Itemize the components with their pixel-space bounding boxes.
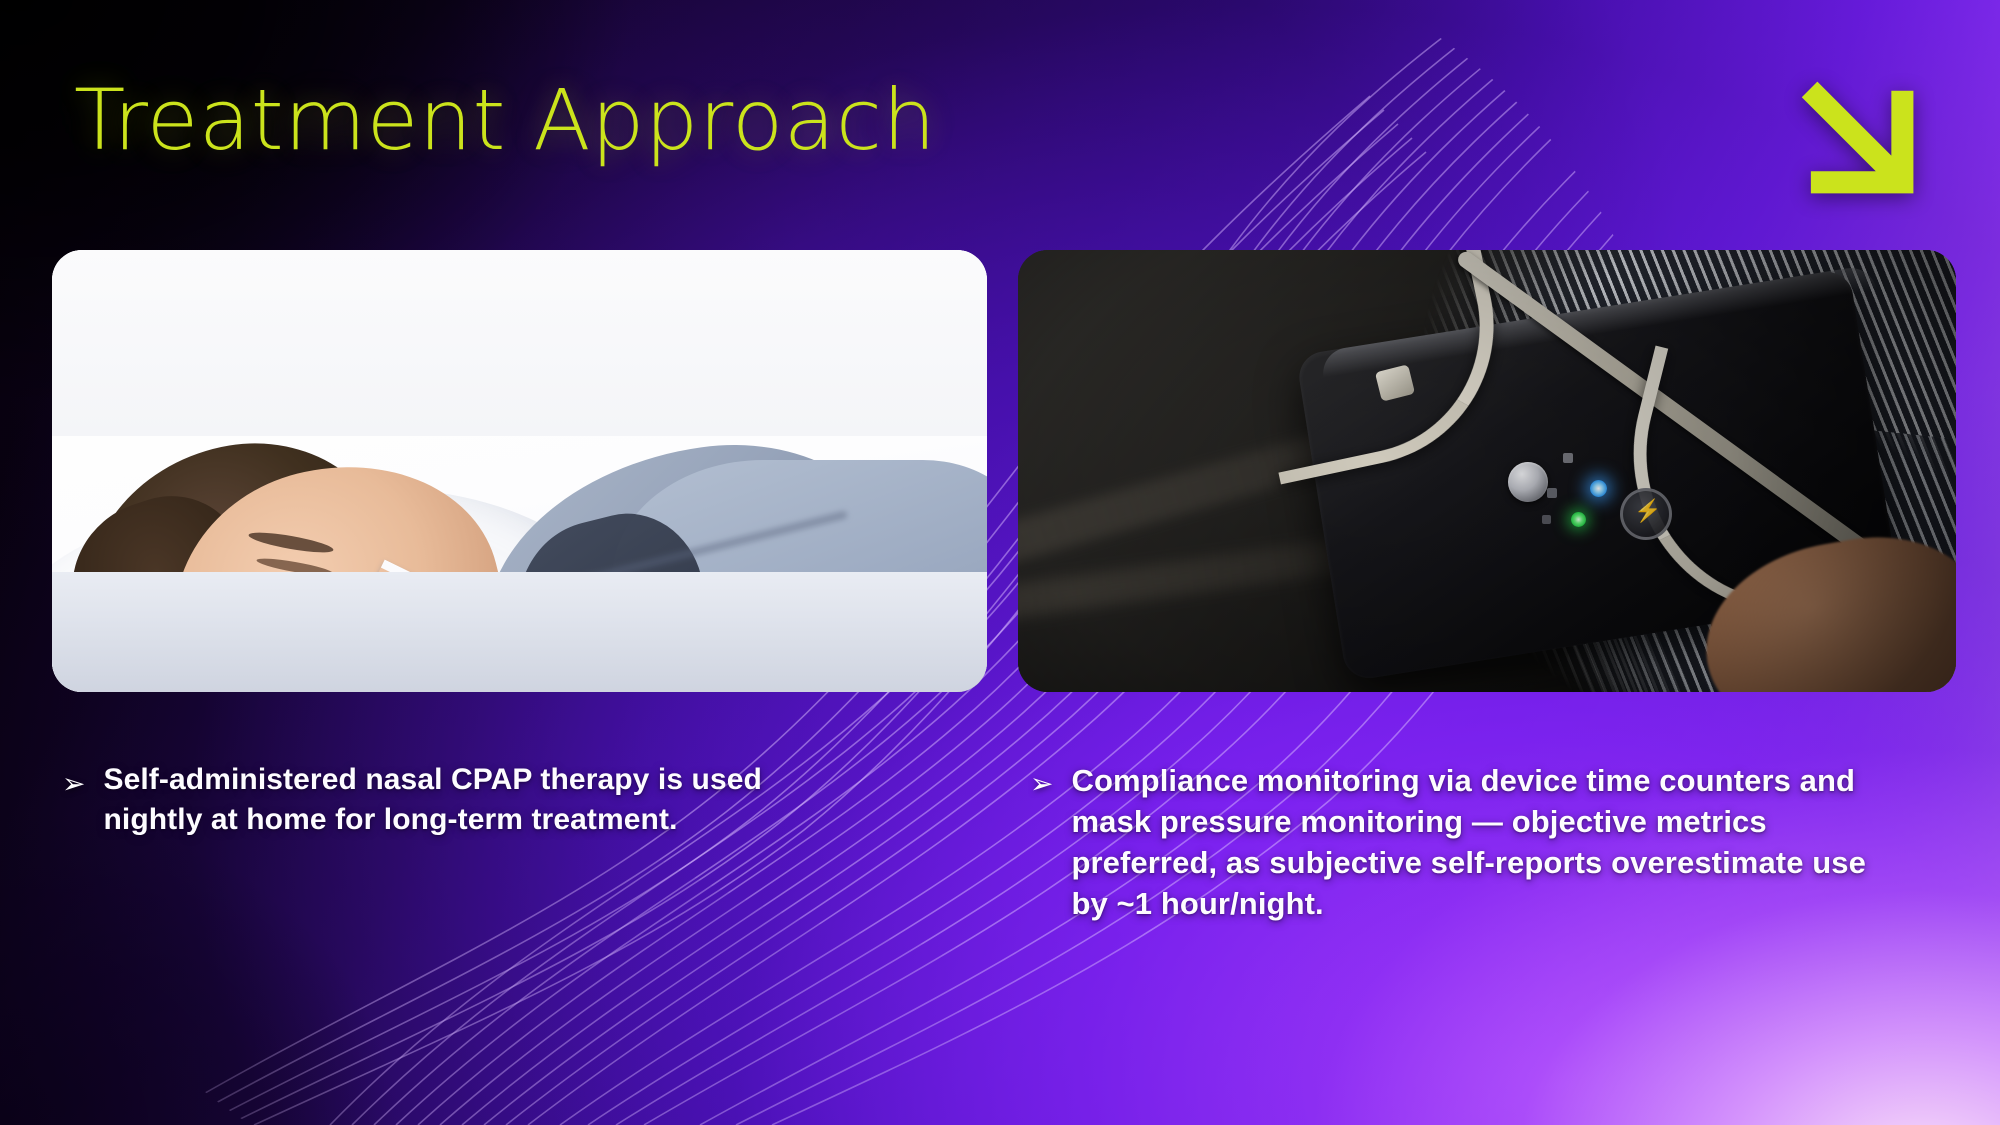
- bullet-text: Self-administered nasal CPAP therapy is …: [103, 760, 862, 840]
- bullet-arrow-icon: ➢: [62, 764, 85, 804]
- arrow-down-right-icon: [1790, 70, 1920, 205]
- page-title: Treatment Approach: [74, 78, 936, 162]
- slide-canvas: Treatment Approach: [0, 0, 2000, 1125]
- cpap-patient-sleeping-image: [52, 250, 987, 692]
- cpap-compliance-device-image: ⚡: [1018, 250, 1956, 692]
- status-led-green-icon: [1571, 512, 1586, 527]
- bullet-item-compliance: ➢ Compliance monitoring via device time …: [1030, 760, 1880, 924]
- status-led-blue-icon: [1590, 480, 1607, 497]
- bullet-item-treatment: ➢ Self-administered nasal CPAP therapy i…: [62, 760, 862, 840]
- device-power-button: [1508, 462, 1548, 502]
- bullet-arrow-icon: ➢: [1030, 764, 1053, 804]
- bullet-text: Compliance monitoring via device time co…: [1071, 760, 1880, 924]
